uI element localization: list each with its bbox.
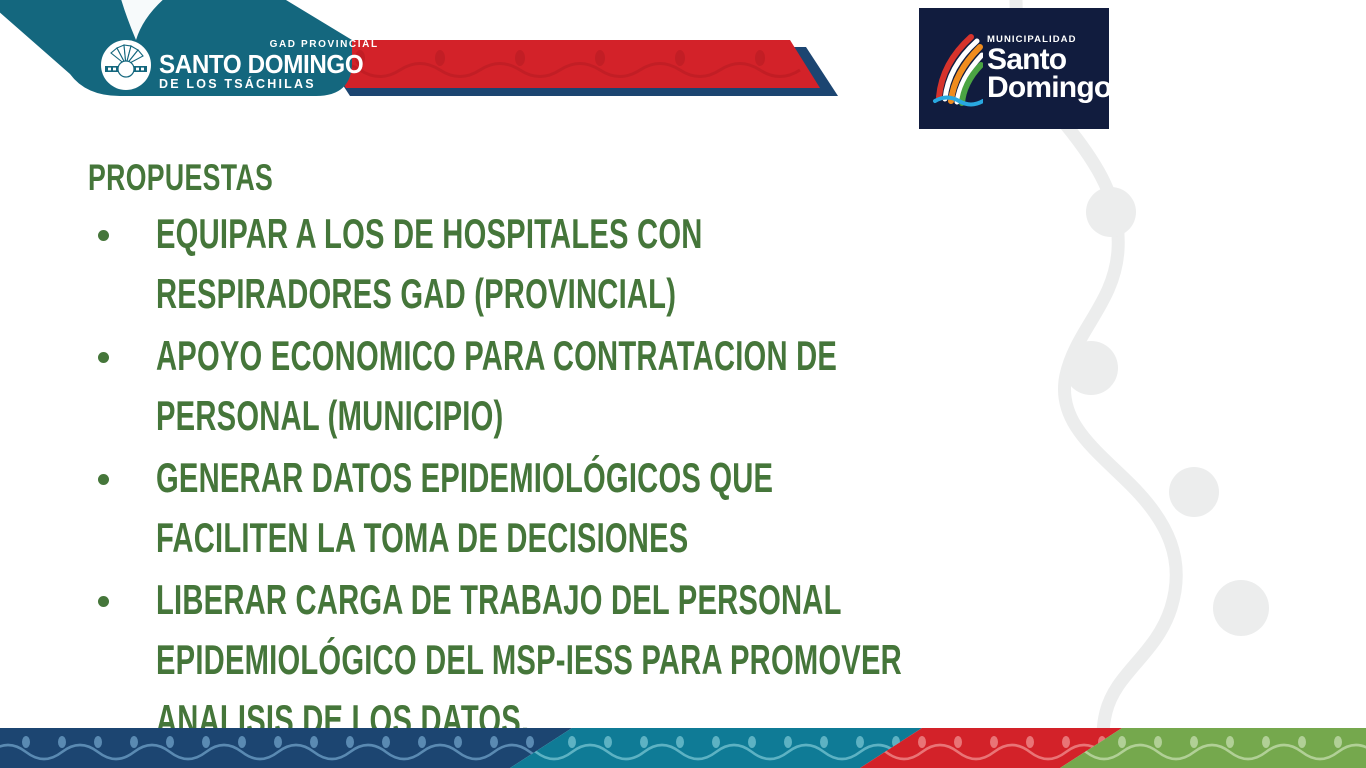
bullet-marker-icon [88,448,156,490]
page-title: PROPUESTAS [88,158,938,198]
slide-footer-band [0,728,1366,768]
bullet-marker-icon [88,204,156,246]
colored-swoosh-icon [931,31,983,107]
list-item: LIBERAR CARGA DE TRABAJO DEL PERSONAL EP… [88,570,1268,750]
municipal-logo-panel: MUNICIPALIDAD Santo Domingo [919,8,1109,129]
slide-header: GAD PROVINCIAL SANTO DOMINGO DE LOS TSÁC… [0,0,1366,140]
list-item: GENERAR DATOS EPIDEMIOLÓGICOS QUE FACILI… [88,448,1268,568]
proposals-list: EQUIPAR A LOS DE HOSPITALES CON RESPIRAD… [88,204,1268,750]
gad-provincial-logo: GAD PROVINCIAL SANTO DOMINGO DE LOS TSÁC… [100,38,379,92]
list-item: EQUIPAR A LOS DE HOSPITALES CON RESPIRAD… [88,204,1268,324]
tsachila-sun-emblem-icon [100,39,152,91]
presentation-slide: GAD PROVINCIAL SANTO DOMINGO DE LOS TSÁC… [0,0,1366,768]
slide-content: PROPUESTAS EQUIPAR A LOS DE HOSPITALES C… [88,158,1268,752]
gad-logo-name: SANTO DOMINGO [159,51,363,77]
bullet-marker-icon [88,326,156,368]
municipal-logo-line1: Santo [987,46,1111,74]
list-item: APOYO ECONOMICO PARA CONTRATACION DE PER… [88,326,1268,446]
list-item-label: GENERAR DATOS EPIDEMIOLÓGICOS QUE FACILI… [156,448,929,568]
list-item-label: EQUIPAR A LOS DE HOSPITALES CON RESPIRAD… [156,204,929,324]
municipal-logo-line2: Domingo [987,74,1111,103]
list-item-label: LIBERAR CARGA DE TRABAJO DEL PERSONAL EP… [156,570,929,750]
bullet-marker-icon [88,570,156,612]
list-item-label: APOYO ECONOMICO PARA CONTRATACION DE PER… [156,326,929,446]
gad-logo-subtitle: DE LOS TSÁCHILAS [159,78,379,91]
